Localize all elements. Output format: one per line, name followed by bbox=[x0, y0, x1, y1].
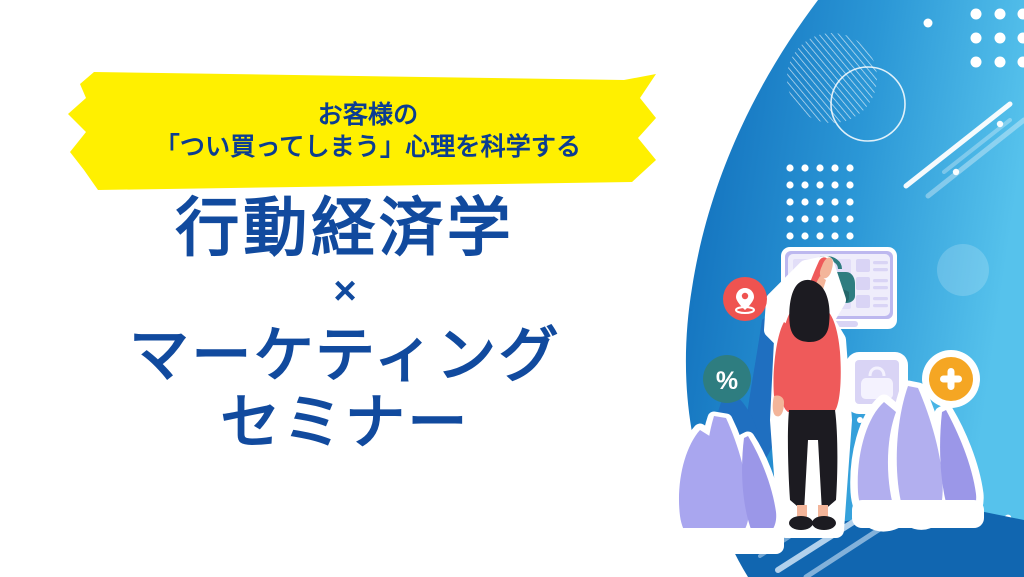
badge-percent: % bbox=[703, 355, 751, 403]
title-line-3: セミナー bbox=[0, 389, 690, 456]
badge-plus bbox=[922, 350, 980, 408]
dot-accent-1 bbox=[924, 19, 933, 28]
ribbon-line-2: 「つい買ってしまう」心理を科学する bbox=[155, 131, 581, 164]
title-line-1: 行動経済学 bbox=[0, 196, 690, 260]
badge-location-pin bbox=[723, 277, 767, 321]
soft-circle bbox=[937, 244, 989, 296]
poster-canvas: % お客様の 「つい買ってしまう」心理を科学する 行動経済学 × bbox=[0, 0, 1024, 577]
highlight-ribbon: お客様の 「つい買ってしまう」心理を科学する bbox=[64, 72, 672, 190]
person-shoe-left bbox=[789, 516, 813, 530]
text-column: お客様の 「つい買ってしまう」心理を科学する 行動経済学 × マーケティング セ… bbox=[0, 0, 690, 577]
title-cross-symbol: × bbox=[0, 260, 690, 322]
person-shoe-right bbox=[812, 516, 836, 530]
ribbon-line-1: お客様の bbox=[318, 99, 419, 132]
main-title: 行動経済学 × マーケティング セミナー bbox=[0, 196, 690, 456]
person-illustration bbox=[772, 257, 844, 530]
person-hair bbox=[789, 280, 829, 342]
badge-percent-label: % bbox=[716, 367, 738, 395]
title-line-2: マーケティング bbox=[0, 322, 690, 389]
dot-accent-2 bbox=[765, 37, 773, 45]
